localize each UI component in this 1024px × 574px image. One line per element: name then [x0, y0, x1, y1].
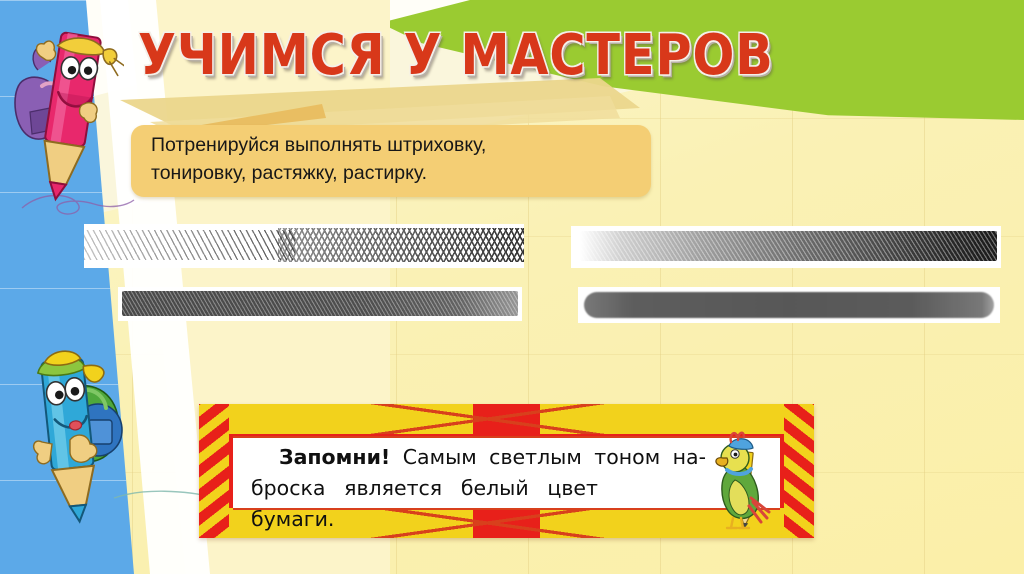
banner-text-block: Запомни! Самым светлым тоном на- броска … [251, 442, 706, 504]
sample-strip-blending [578, 287, 1000, 323]
speech-bubble-text: Потренируйся выполнять штриховку, тониро… [151, 131, 651, 193]
sample-strip-toning [118, 287, 522, 321]
banner-line-2: броска является белый цвет бумаги. [251, 473, 706, 535]
hatching-cross-strokes [278, 228, 524, 262]
speech-bubble-line-1: Потренируйся выполнять штриховку, [151, 131, 651, 159]
banner-top-border [229, 404, 784, 434]
sample-strip-gradient [571, 226, 1001, 268]
gradient-tone-swatch [580, 231, 997, 261]
sample-strip-hatching [84, 224, 524, 268]
parrot-character [707, 430, 779, 534]
blended-tone-swatch [584, 292, 993, 318]
banner-right-stripes [784, 404, 814, 538]
banner-line-1: Самым светлым тоном на- [403, 445, 706, 469]
banner-left-stripes [199, 404, 229, 538]
speech-bubble-line-2: тонировку, растяжку, растирку. [151, 159, 651, 187]
page-title: УЧИМСЯ У МАСТЕРОВ [138, 22, 684, 92]
blue-pencil-character [12, 326, 134, 530]
remember-banner: Запомни! Самым светлым тоном на- броска … [199, 404, 814, 538]
pink-pencil-character [6, 8, 124, 208]
hatching-diagonal-strokes [84, 230, 295, 260]
slide-root: УЧИМСЯ У МАСТЕРОВ Потренируйся выполнять… [0, 0, 1024, 574]
banner-lead-word: Запомни! [279, 445, 390, 469]
uniform-tone-swatch [122, 291, 518, 316]
